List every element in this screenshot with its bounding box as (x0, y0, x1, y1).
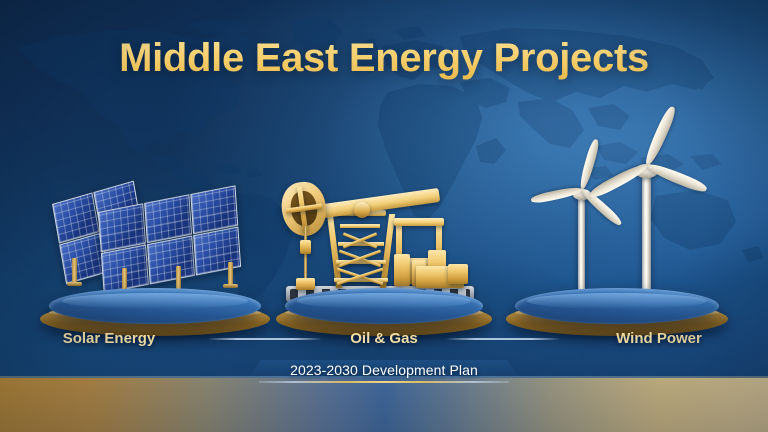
category-label-row: Solar Energy Oil & Gas Wind Power (0, 330, 768, 347)
label-wind-power[interactable]: Wind Power (559, 330, 759, 347)
label-divider-2 (447, 338, 559, 340)
page-title: Middle East Energy Projects (0, 36, 768, 81)
label-oil-and-gas[interactable]: Oil & Gas (321, 330, 447, 347)
podium-solar (40, 282, 270, 336)
poster-canvas: Middle East Energy Projects (0, 0, 768, 432)
equipment-box (448, 264, 468, 284)
podium-disc-blue (285, 288, 484, 324)
polished-rod (304, 226, 307, 284)
podium-oil (276, 282, 492, 336)
rod-clamp (300, 240, 311, 254)
wind-turbine-right (612, 142, 722, 304)
footer-accent-rule (259, 381, 509, 383)
solar-leg (72, 258, 77, 284)
wind-turbine-icon (506, 134, 728, 304)
beam-pivot (354, 202, 370, 218)
label-divider-1 (209, 338, 321, 340)
derrick-tower (334, 214, 388, 288)
label-solar-energy[interactable]: Solar Energy (9, 330, 209, 347)
footer-gold-gradient-band (0, 378, 768, 432)
footer-subtitle: 2023-2030 Development Plan (0, 362, 768, 378)
footer-band: 2023-2030 Development Plan (0, 370, 768, 432)
podium-wind (506, 282, 728, 336)
podium-disc-blue (515, 288, 719, 324)
podium-disc-blue (49, 288, 261, 324)
